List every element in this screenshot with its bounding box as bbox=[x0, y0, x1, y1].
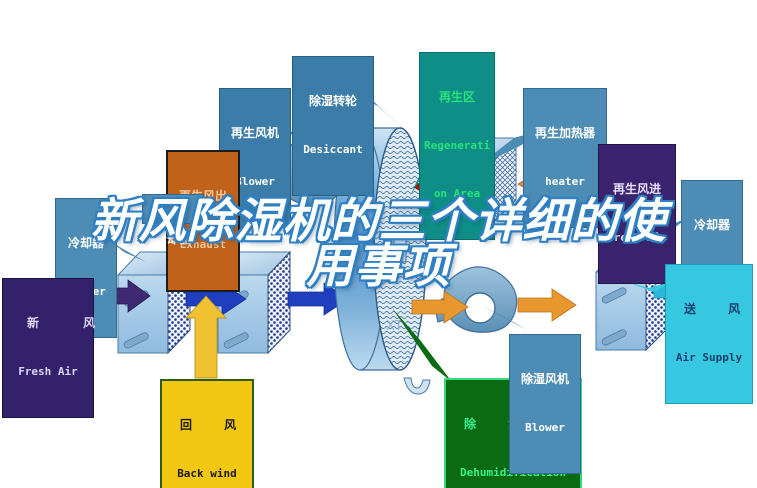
label-air-supply-en: Air Supply bbox=[670, 352, 748, 364]
label-desiccant-wheel-en: Desiccant bbox=[297, 144, 369, 156]
label-desiccant-wheel-cn: 除湿转轮 bbox=[297, 95, 369, 108]
label-back-wind-en: Back wind bbox=[166, 468, 248, 480]
diagram-canvas: XT bbox=[0, 0, 757, 488]
label-dehumidification-blower-en: Blower bbox=[514, 422, 576, 434]
label-regeneration-heater[interactable]: 再生加热器 heater bbox=[523, 88, 607, 228]
label-regeneration-blower-cn: 再生风机 bbox=[224, 127, 286, 140]
label-fresh-air-inlet-en: Fresh Air bbox=[7, 366, 89, 378]
label-regeneration-fresh-air-en: Fresh Air bbox=[603, 232, 671, 244]
label-cooler-right-cn: 冷却器 bbox=[686, 219, 738, 232]
label-desiccant-wheel[interactable]: 除湿转轮 Desiccant bbox=[292, 56, 374, 196]
label-regeneration-area-en-2: on Area bbox=[424, 188, 490, 200]
label-dehumidification-blower-cn: 除湿风机 bbox=[514, 373, 576, 386]
label-back-wind[interactable]: 回 风 Back wind bbox=[160, 379, 254, 488]
label-back-wind-cn: 回 风 bbox=[166, 419, 248, 432]
label-cooler-left-2-cn: 冷却器 bbox=[147, 233, 199, 246]
label-regeneration-area-en-1: Regenerati bbox=[424, 140, 490, 152]
label-regeneration-fresh-air-cn: 再生风进 bbox=[603, 183, 671, 196]
label-fresh-air-inlet-cn: 新 风 bbox=[7, 317, 89, 330]
label-cooler-left-2[interactable]: 冷却器 bbox=[142, 194, 204, 224]
label-fresh-air-inlet[interactable]: 新 风 Fresh Air bbox=[2, 278, 94, 418]
label-regeneration-area-cn: 再生区 bbox=[424, 91, 490, 104]
label-regeneration-area[interactable]: 再生区 Regenerati on Area bbox=[419, 52, 495, 240]
watermark-text: XT bbox=[386, 319, 403, 334]
label-air-supply[interactable]: 送 风 Air Supply bbox=[665, 264, 753, 404]
label-cooler-left-1-cn: 冷却器 bbox=[60, 237, 112, 250]
label-dehumidification-blower[interactable]: 除湿风机 Blower bbox=[509, 334, 581, 474]
label-regeneration-heater-cn: 再生加热器 bbox=[528, 127, 602, 140]
label-regeneration-heater-en: heater bbox=[528, 176, 602, 188]
arrow-blower-to-supply bbox=[518, 289, 576, 321]
label-air-supply-cn: 送 风 bbox=[670, 303, 748, 316]
